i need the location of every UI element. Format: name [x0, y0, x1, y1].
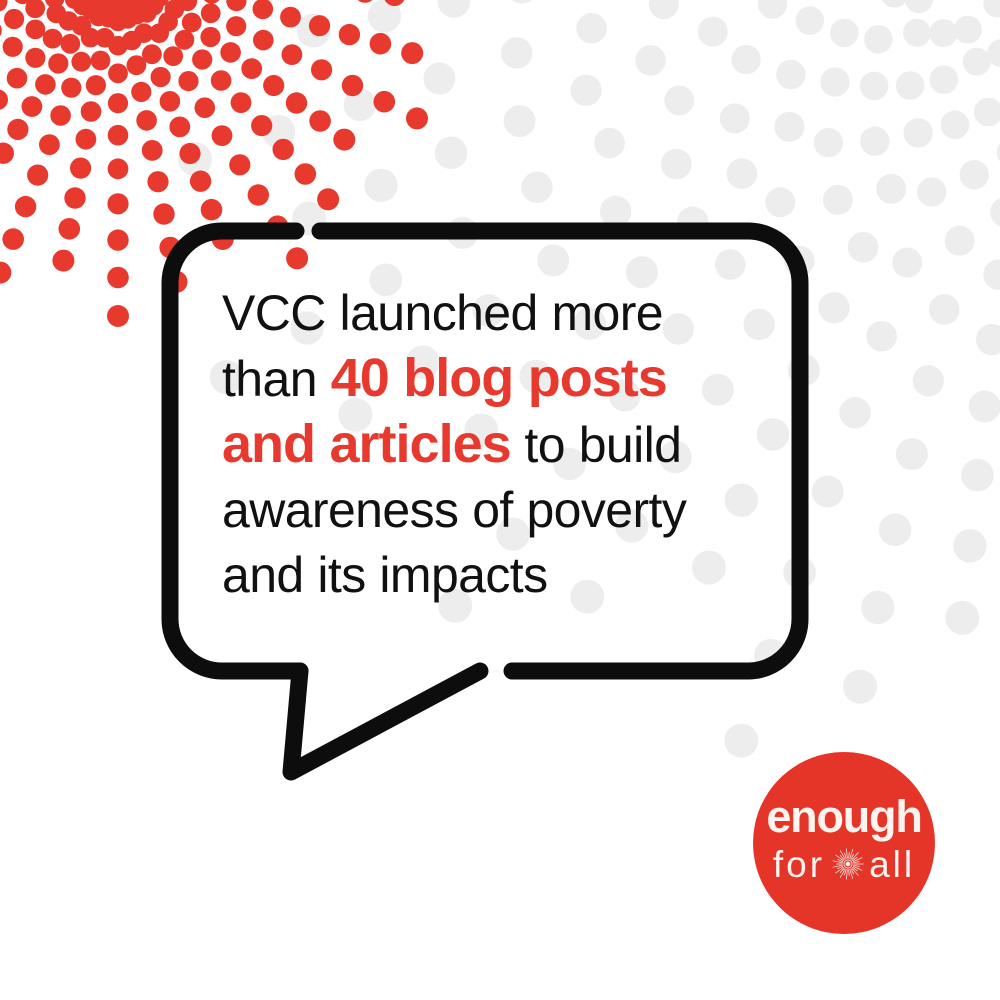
headline-line: and its impacts [222, 543, 782, 608]
headline-line: awareness of poverty [222, 478, 782, 543]
bubble-headline: VCC launched more than 40 blog postsand … [222, 281, 782, 608]
enough-for-all-logo[interactable]: enough for all [753, 752, 935, 934]
headline-plain: to build [511, 417, 682, 473]
headline-line: and articles to build [222, 412, 782, 478]
headline-highlight: 40 blog posts [331, 348, 667, 408]
logo-wordmark-enough: enough [753, 794, 935, 839]
headline-line: VCC launched more [222, 281, 782, 346]
headline-line: than 40 blog posts [222, 346, 782, 412]
headline-plain: VCC launched more [222, 285, 663, 341]
headline-plain: and its impacts [222, 547, 547, 603]
logo-word-all: all [869, 846, 915, 883]
sunburst-icon [831, 847, 865, 881]
logo-word-for: for [773, 846, 825, 883]
poster-canvas: VCC launched more than 40 blog postsand … [0, 0, 1000, 1000]
headline-highlight: and articles [222, 414, 511, 474]
logo-tagline: for all [753, 842, 935, 886]
headline-plain: awareness of poverty [222, 482, 686, 538]
headline-plain: than [222, 351, 331, 407]
